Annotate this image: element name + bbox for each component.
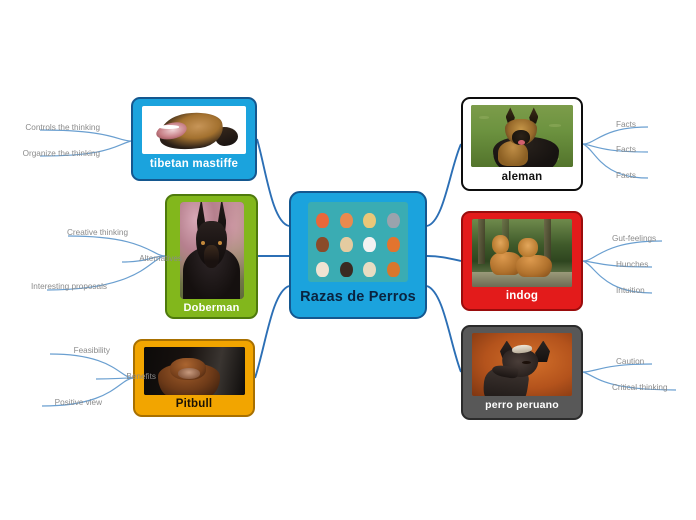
- indog-label: indog: [506, 290, 538, 303]
- dog-cell: Chihuahua: [358, 205, 382, 230]
- pitbull-image: [144, 347, 245, 395]
- leaf-facts-2[interactable]: Facts: [616, 145, 690, 154]
- aleman-image: [471, 105, 573, 167]
- leaf-positive-view[interactable]: Positive view: [0, 398, 102, 407]
- doberman-image: [180, 202, 244, 299]
- dog-cell: Pomeranian: [382, 254, 406, 279]
- dog-cell: Corgi: [382, 230, 406, 255]
- branch-node-perro-peruano[interactable]: perro peruano: [461, 325, 583, 420]
- perro-peruano-image: [472, 333, 572, 396]
- leaf-intuition[interactable]: Intuition: [616, 286, 696, 295]
- dog-cell-label: Shih Tzu: [367, 277, 373, 278]
- dog-cell: Schnauzer: [382, 205, 406, 230]
- leaf-caution[interactable]: Caution: [616, 357, 696, 366]
- leaf-interesting-proposals[interactable]: Interesting proposals: [0, 282, 107, 291]
- leaf-organize-the-thinking[interactable]: Organize the thinking: [0, 149, 100, 158]
- leaf-critical-thinking[interactable]: Critical thinking: [612, 383, 696, 392]
- mindmap-canvas: Poodle Collie Chihuahua Schnauzer Dachsh…: [0, 0, 696, 520]
- dog-cell: Jack Russell: [358, 230, 382, 255]
- central-node-image: Poodle Collie Chihuahua Schnauzer Dachsh…: [308, 202, 408, 282]
- dog-breed-illustration-grid: Poodle Collie Chihuahua Schnauzer Dachsh…: [308, 202, 408, 282]
- leaf-facts-1[interactable]: Facts: [616, 120, 690, 129]
- central-node-label: Razas de Perros: [300, 290, 416, 306]
- leaf-alternatives[interactable]: Alternatives: [0, 254, 182, 263]
- dog-cell-label: Doberman: [343, 277, 350, 278]
- leaf-facts-3[interactable]: Facts: [616, 171, 690, 180]
- leaf-gut-feelings[interactable]: Gut-feelings: [612, 234, 696, 243]
- dog-cell-label: Cavalier: [320, 277, 325, 278]
- dog-cell: Dachshund: [311, 230, 335, 255]
- leaf-benefits[interactable]: Benefits: [0, 372, 156, 381]
- doberman-label: Doberman: [184, 302, 240, 314]
- dog-cell: Cavalier: [311, 254, 335, 279]
- tibetan-mastiffe-label: tibetan mastiffe: [150, 158, 238, 171]
- dog-cell: Poodle: [311, 205, 335, 230]
- branch-node-indog[interactable]: indog: [461, 211, 583, 311]
- dog-cell-label: Pomeranian: [389, 277, 397, 278]
- leaf-hunches[interactable]: Hunches: [616, 260, 696, 269]
- leaf-controls-the-thinking[interactable]: Controls the thinking: [0, 123, 100, 132]
- indog-image: [472, 219, 572, 287]
- dog-cell: Doberman: [335, 254, 359, 279]
- leaf-creative-thinking[interactable]: Creative thinking: [0, 228, 128, 237]
- perro-peruano-label: perro peruano: [485, 400, 559, 412]
- central-node[interactable]: Poodle Collie Chihuahua Schnauzer Dachsh…: [289, 191, 427, 319]
- dog-cell: Collie: [335, 205, 359, 230]
- branch-node-tibetan-mastiffe[interactable]: tibetan mastiffe: [131, 97, 257, 181]
- tibetan-mastiffe-image: [142, 106, 246, 154]
- leaf-feasibility[interactable]: Feasibility: [0, 346, 110, 355]
- branch-node-aleman[interactable]: aleman: [461, 97, 583, 191]
- dog-cell: Shih Tzu: [358, 254, 382, 279]
- indog-dog-right: [516, 238, 552, 277]
- aleman-label: aleman: [502, 171, 543, 184]
- dog-cell: Pug: [335, 230, 359, 255]
- pitbull-label: Pitbull: [176, 398, 213, 411]
